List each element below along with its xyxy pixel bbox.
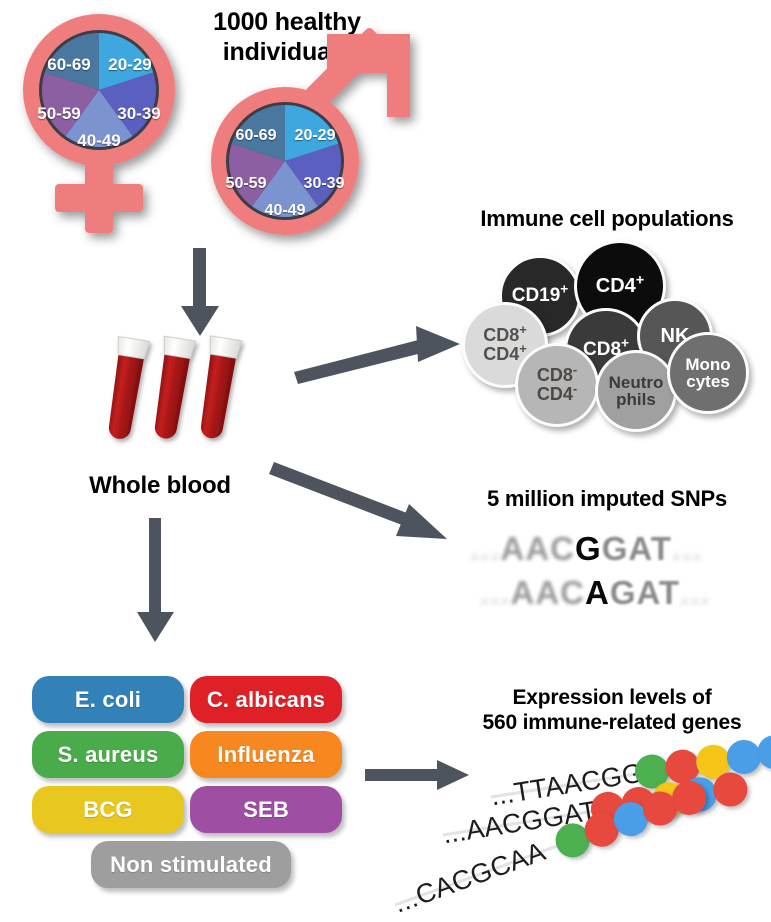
- expression-title-line1: Expression levels of: [462, 686, 762, 711]
- immune-cell-neutrophils: Neutrophils: [595, 350, 677, 432]
- arrow-blood-to-snps: [272, 452, 452, 552]
- immune-cell-monocytes: Monocytes: [667, 332, 749, 414]
- stimulus-label: S. aureus: [58, 742, 159, 768]
- stimulus-label: E. coli: [75, 687, 141, 713]
- snp-right: GAT: [610, 574, 680, 612]
- immune-cells-title: Immune cell populations: [452, 206, 762, 232]
- stimulus-label: C. albicans: [207, 687, 325, 713]
- gene-sequence: ...CACGCAA: [390, 836, 550, 920]
- immune-cell-label: CD19+: [512, 286, 569, 306]
- immune-cell-label: Neutrophils: [609, 374, 664, 409]
- immune-cell-label: Monocytes: [685, 356, 730, 391]
- snp-left: AAC: [511, 574, 586, 612]
- blood-tube: [194, 336, 241, 441]
- immune-cell-label: CD8+CD4+: [483, 326, 527, 363]
- immune-cell-cd8-cd4-dn: CD8-CD4-: [515, 343, 599, 427]
- snp-variant-allele: G: [575, 530, 602, 568]
- stimulus-c-albicans[interactable]: C. albicans: [190, 676, 342, 723]
- snp-variant-allele: A: [585, 574, 610, 612]
- snp-sequence-row: ...AACAGAT...: [480, 574, 711, 612]
- stimulus-bcg[interactable]: BCG: [32, 786, 184, 833]
- immune-cell-label: CD8-CD4-: [537, 366, 577, 403]
- snp-left: AAC: [501, 530, 576, 568]
- male-symbol: 20-29 30-39 40-49 50-59 60-69: [195, 22, 425, 247]
- stimuli-panel: E. coli C. albicans S. aureus Influenza …: [32, 676, 342, 896]
- female-symbol: 20-29 30-39 40-49 50-59 60-69: [10, 8, 200, 243]
- stimulus-label: SEB: [243, 797, 289, 823]
- stimulus-label: Influenza: [217, 742, 314, 768]
- snp-sequences: ...AACGGAT... ...AACAGAT...: [470, 530, 760, 620]
- snp-sequence-row: ...AACGGAT...: [470, 530, 702, 568]
- male-age-pie: [229, 105, 341, 217]
- arrow-blood-to-immune-cells: [292, 322, 462, 384]
- immune-cell-label: CD4+: [596, 276, 644, 297]
- snps-title: 5 million imputed SNPs: [452, 486, 762, 512]
- female-age-pie: [42, 33, 156, 147]
- stimulus-seb[interactable]: SEB: [190, 786, 342, 833]
- stimulus-non-stimulated[interactable]: Non stimulated: [91, 841, 291, 888]
- whole-blood-label: Whole blood: [60, 472, 260, 500]
- snp-right: GAT: [602, 530, 672, 568]
- arrow-cohort-to-blood: [175, 248, 225, 338]
- stimulus-label: BCG: [83, 797, 133, 823]
- snp-suffix: ...: [672, 530, 703, 568]
- stimulus-s-aureus[interactable]: S. aureus: [32, 731, 184, 778]
- blood-tube: [148, 336, 195, 441]
- stimulus-e-coli[interactable]: E. coli: [32, 676, 184, 723]
- stimulus-label: Non stimulated: [110, 852, 272, 878]
- gene-bead: [711, 770, 750, 809]
- blood-tubes: [100, 330, 250, 455]
- snp-prefix: ...: [470, 530, 501, 568]
- arrow-blood-to-stimuli: [131, 518, 181, 643]
- snp-suffix: ...: [680, 574, 711, 612]
- gene-strands: ...TTAACGG ...AACGGAT ...CACGCAA: [455, 750, 771, 915]
- snp-prefix: ...: [480, 574, 511, 612]
- immune-cell-cluster: CD19+ CD4+ CD8+CD4+ CD8+ NK CD8-CD4- Neu…: [455, 240, 755, 415]
- stimulus-influenza[interactable]: Influenza: [190, 731, 342, 778]
- expression-title-line2: 560 immune-related genes: [462, 711, 762, 736]
- expression-title: Expression levels of 560 immune-related …: [462, 686, 762, 736]
- blood-tube: [102, 336, 149, 441]
